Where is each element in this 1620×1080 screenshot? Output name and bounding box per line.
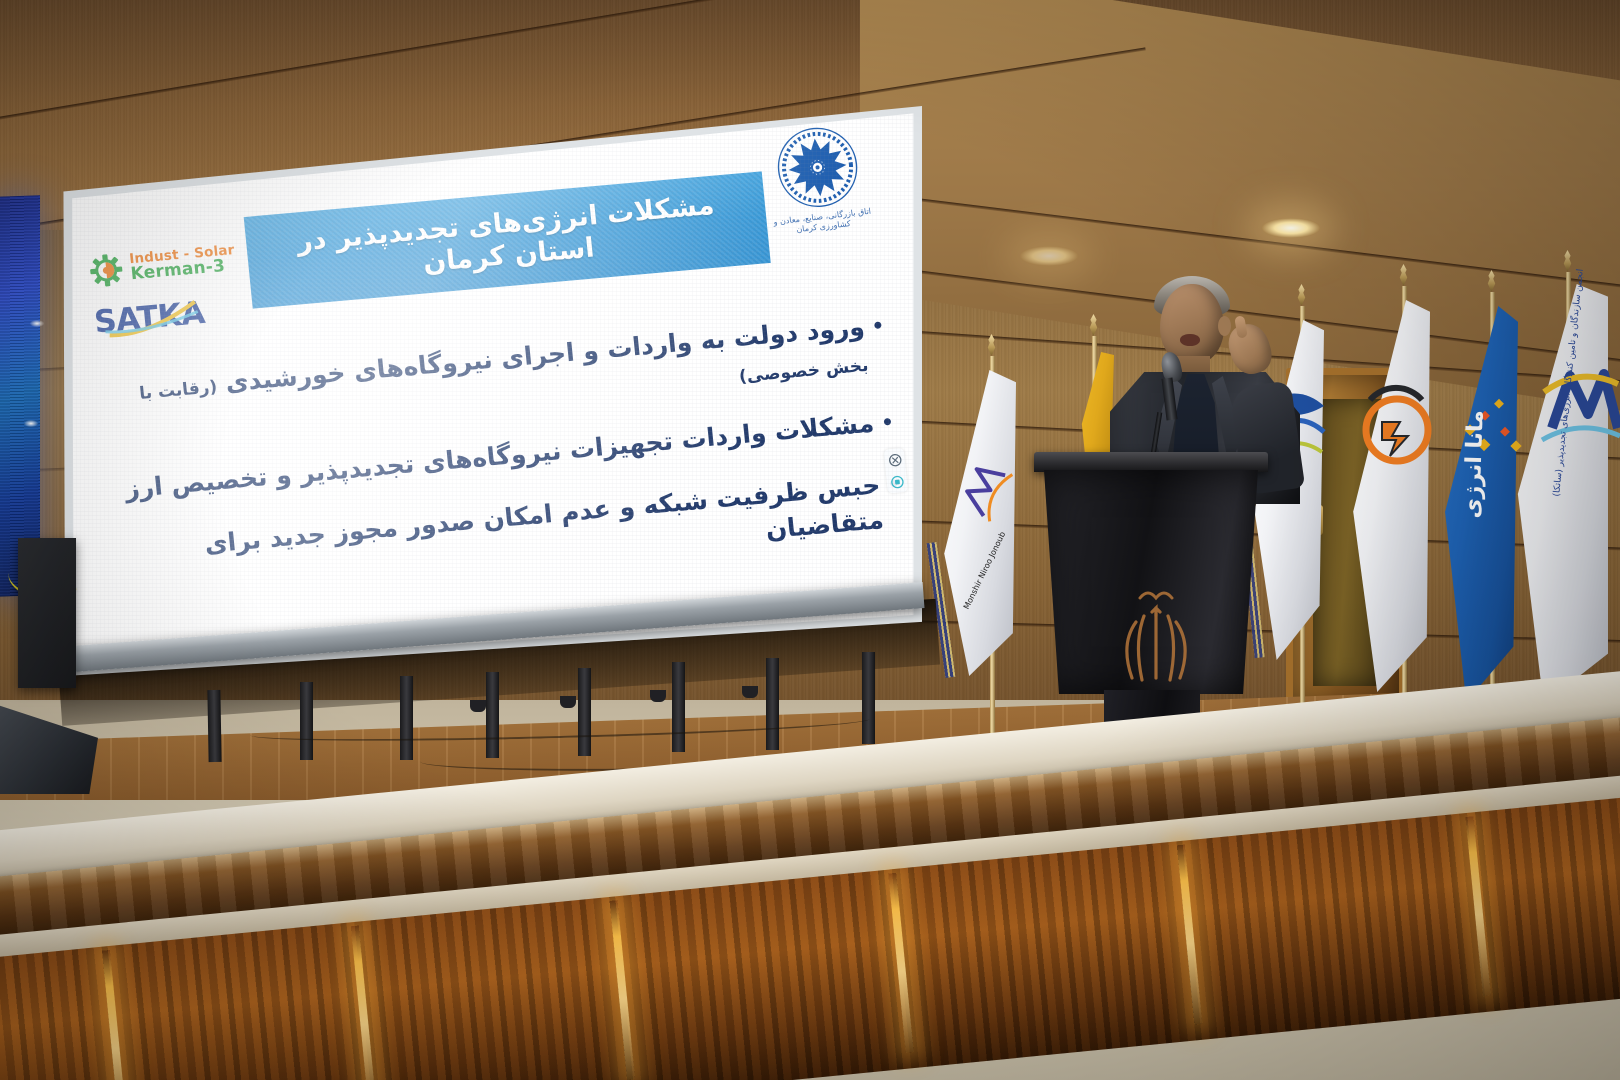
slide-title-bar: مشکلات انرژی‌های تجدیدپذیر در استان کرما… xyxy=(244,171,771,308)
screen-support-leg xyxy=(766,658,779,750)
slide-bullet-list: ورود دولت به واردات و اجرای نیروگاه‌های … xyxy=(93,307,905,631)
satka-wordmark: SATKA xyxy=(93,295,207,341)
settings-dot-icon[interactable] xyxy=(888,453,902,467)
podium-top-surface xyxy=(1034,452,1268,472)
presenter-hand xyxy=(1224,319,1276,378)
screen-caster xyxy=(560,696,576,708)
auxiliary-led-display xyxy=(0,195,40,597)
stage-speaker-box xyxy=(18,538,76,688)
slide-title: مشکلات انرژی‌های تجدیدپذیر در استان کرما… xyxy=(245,185,769,294)
screen-support-leg xyxy=(400,676,413,760)
flag-satka-icon xyxy=(1536,358,1620,478)
flag-orange-ring-icon xyxy=(1360,378,1434,488)
bullet-dot-icon xyxy=(884,418,892,426)
aux-lamp xyxy=(30,320,44,327)
iran-national-emblem-icon xyxy=(1106,582,1206,688)
screen-surface: اتاق بازرگانی، صنایع، معادن و کشاورزی کر… xyxy=(60,106,922,676)
screen-caster xyxy=(650,690,666,702)
bullet-dot-icon xyxy=(874,321,882,329)
bullet-main: ورود دولت به واردات و اجرای نیروگاه‌های … xyxy=(224,312,866,397)
screen-support-leg xyxy=(207,690,221,762)
chamber-emblem-icon xyxy=(770,121,864,214)
screen-support-leg xyxy=(862,652,875,744)
screen-caster xyxy=(470,700,486,712)
screen-support-leg xyxy=(486,672,499,758)
presenter-mouth xyxy=(1180,334,1200,346)
chamber-of-commerce-emblem: اتاق بازرگانی، صنایع، معادن و کشاورزی کر… xyxy=(758,120,882,253)
flag-label: مانا انرژی xyxy=(1460,410,1489,519)
scene-root: Monshir Niroo Jonoub xyxy=(0,0,1620,1080)
power-dot-icon[interactable] xyxy=(890,475,904,489)
screen-support-leg xyxy=(672,662,685,752)
screen-control-cluster[interactable] xyxy=(884,448,908,494)
slide-content: اتاق بازرگانی، صنایع، معادن و کشاورزی کر… xyxy=(60,106,922,676)
satka-logo: SATKA xyxy=(93,288,287,345)
presentation-screen[interactable]: اتاق بازرگانی، صنایع، معادن و کشاورزی کر… xyxy=(60,106,922,676)
ceiling-downlight xyxy=(1262,218,1320,238)
screen-support-leg xyxy=(578,668,591,756)
screen-support-leg xyxy=(300,682,313,760)
aux-lamp xyxy=(24,420,38,427)
ceiling-downlight xyxy=(1020,246,1078,266)
indust-solar-text: Indust - Solar Kerman-3 xyxy=(129,243,237,284)
podium-front-panel xyxy=(1044,470,1258,694)
presenter-ear xyxy=(1218,316,1231,336)
solar-gear-icon xyxy=(88,252,125,289)
screen-caster xyxy=(742,686,758,698)
